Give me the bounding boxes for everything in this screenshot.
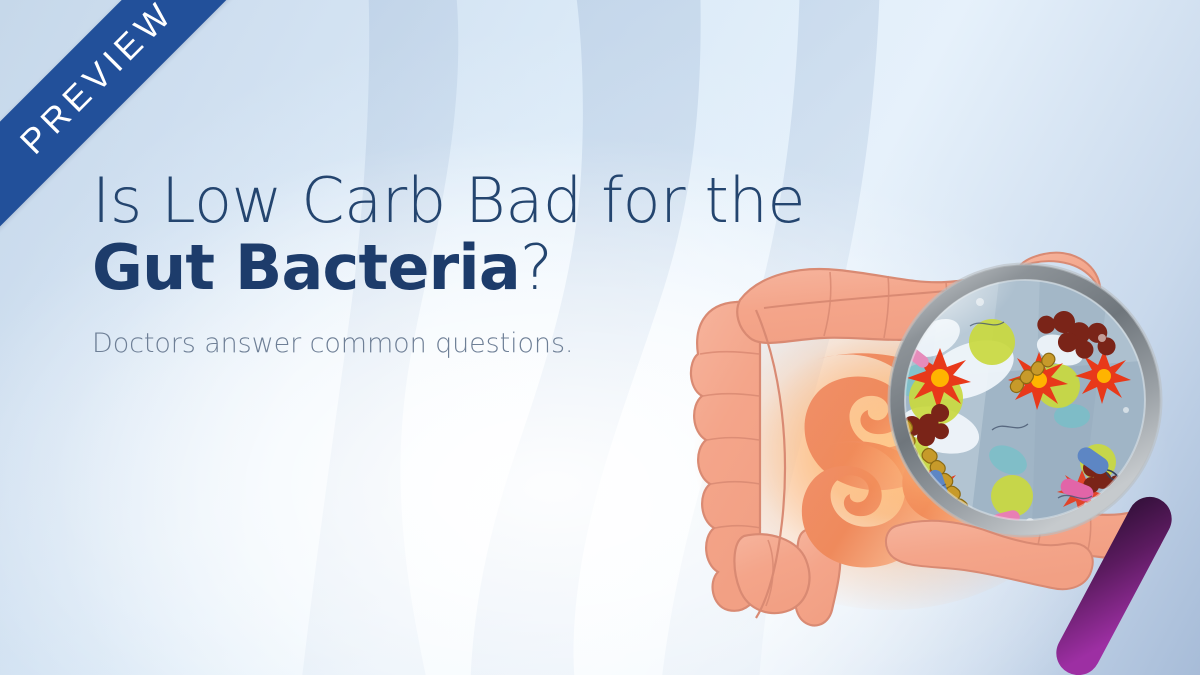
promo-banner: PREVIEW Is Low Carb Bad for the Gut Bact… (0, 0, 1200, 675)
headline-line-1: Is Low Carb Bad for the (92, 168, 752, 234)
headline-emphasis: Gut Bacteria (92, 231, 520, 304)
headline-question-mark: ? (520, 231, 553, 304)
intestine-magnifier-illustration (640, 230, 1200, 675)
